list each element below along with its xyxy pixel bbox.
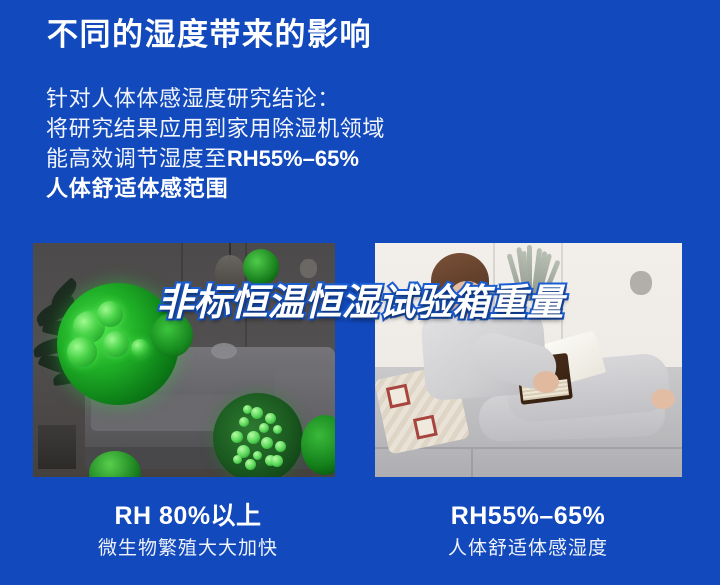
bacteria-cell [259, 423, 269, 433]
bacteria-cell [67, 337, 97, 367]
bacteria-cell [251, 407, 263, 419]
bacteria-cluster-icon [213, 393, 303, 477]
bacteria-cell [131, 339, 149, 357]
bacteria-cell [245, 459, 256, 470]
bacteria-cell [231, 431, 243, 443]
caption-right: RH55%–65% 人体舒适体感湿度 [378, 500, 678, 562]
humidity-range-value: RH55%–65% [227, 146, 359, 171]
bacteria-cell [247, 431, 260, 444]
caption-left-subtitle: 微生物繁殖大大加快 [38, 536, 338, 562]
bacteria-cell [273, 425, 282, 434]
body-copy-line-2: 将研究结果应用到家用除湿机领域 [46, 114, 506, 144]
caption-left: RH 80%以上 微生物繁殖大大加快 [38, 500, 338, 562]
woman-foot [651, 389, 675, 409]
page-title: 不同的湿度带来的影响 [47, 16, 372, 55]
bacteria-cell [243, 405, 252, 414]
bacteria-cell [271, 455, 283, 467]
bacteria-cell [265, 413, 276, 424]
plant-pot [38, 425, 76, 469]
bacteria-cell [233, 455, 242, 464]
cushion-detail [211, 343, 237, 359]
bacteria-cell [239, 417, 249, 427]
woman-hand [533, 371, 559, 393]
humidity-infographic-poster: 不同的湿度带来的影响 针对人体体感湿度研究结论： 将研究结果应用到家用除湿机领域… [0, 0, 720, 585]
bacteria-cell [275, 441, 286, 452]
body-copy-block: 针对人体体感湿度研究结论： 将研究结果应用到家用除湿机领域 能高效调节湿度至RH… [46, 84, 506, 204]
body-copy-line-3-prefix: 能高效调节湿度至 [46, 146, 227, 171]
caption-left-title: RH 80%以上 [38, 500, 338, 532]
bacteria-cell [261, 437, 273, 449]
body-copy-line-1: 针对人体体感湿度研究结论： [46, 84, 506, 114]
caption-row: RH 80%以上 微生物繁殖大大加快 RH55%–65% 人体舒适体感湿度 [0, 500, 720, 585]
bacteria-cell [253, 451, 262, 460]
body-copy-line-3: 能高效调节湿度至RH55%–65% [46, 144, 506, 174]
overlay-banner-text: 非标恒温恒湿试验箱重量 [0, 272, 720, 326]
caption-right-subtitle: 人体舒适体感湿度 [378, 536, 678, 562]
caption-right-title: RH55%–65% [378, 500, 678, 532]
bacteria-cell [103, 331, 129, 357]
body-copy-line-4: 人体舒适体感范围 [46, 174, 506, 204]
